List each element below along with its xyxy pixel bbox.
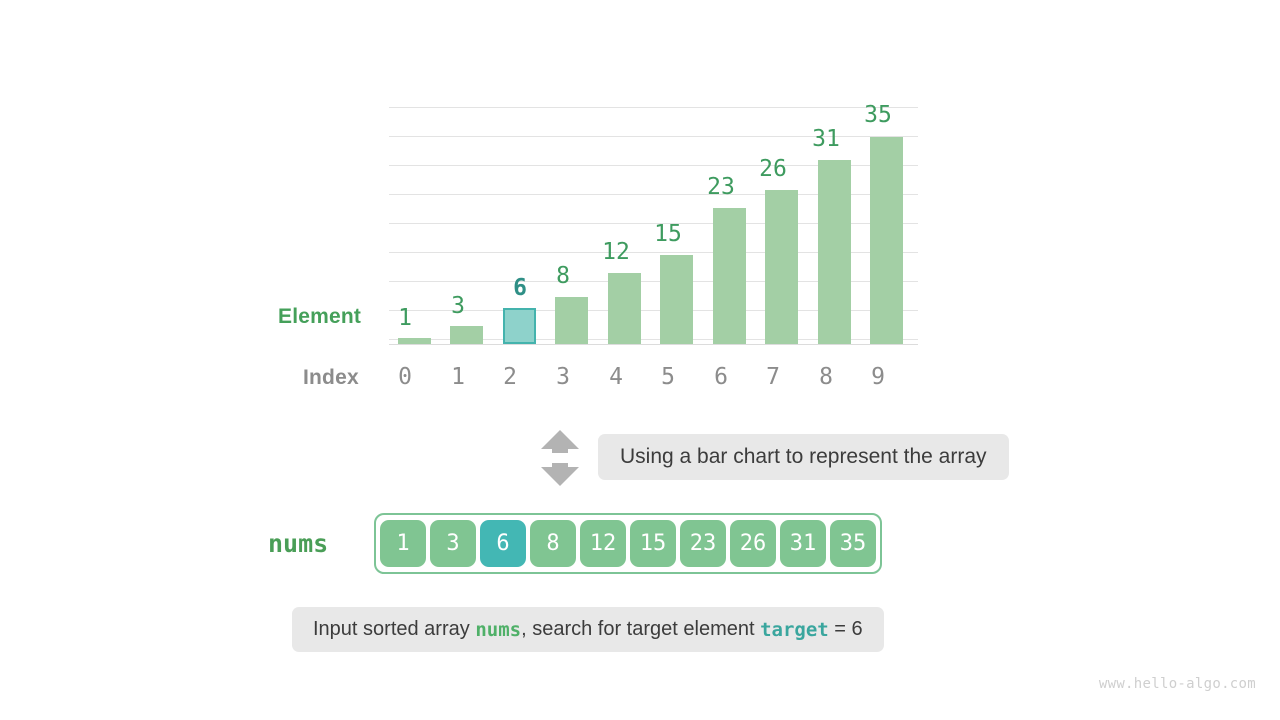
up-down-arrow-icon <box>538 429 582 487</box>
nums-cell-4[interactable]: 12 <box>580 520 626 567</box>
chart-caption-text: Using a bar chart to represent the array <box>620 445 987 469</box>
nums-cell-0[interactable]: 1 <box>380 520 426 567</box>
element-axis-label: Element <box>278 305 361 329</box>
index-label-1: 1 <box>428 366 488 389</box>
nums-cell-2[interactable]: 6 <box>480 520 526 567</box>
index-label-4: 4 <box>586 366 646 389</box>
bar-9[interactable] <box>870 137 903 344</box>
nums-array: 1 3 6 8 12 15 23 26 31 35 <box>374 513 882 574</box>
nums-cell-6[interactable]: 23 <box>680 520 726 567</box>
bottom-caption-part1: Input sorted array <box>313 618 475 641</box>
bar-2[interactable] <box>503 308 536 344</box>
bar-1[interactable] <box>450 326 483 344</box>
bottom-caption-code-target: target <box>760 619 829 641</box>
bar-value-5: 15 <box>638 223 698 246</box>
nums-cell-3[interactable]: 8 <box>530 520 576 567</box>
index-label-5: 5 <box>638 366 698 389</box>
bar-7[interactable] <box>765 190 798 344</box>
bar-value-1: 3 <box>428 295 488 318</box>
bar-value-7: 26 <box>743 158 803 181</box>
bar-value-4: 12 <box>586 241 646 264</box>
index-label-9: 9 <box>848 366 908 389</box>
nums-cell-5[interactable]: 15 <box>630 520 676 567</box>
bar-value-6: 23 <box>691 176 751 199</box>
index-label-3: 3 <box>533 366 593 389</box>
bar-value-0: 1 <box>375 307 435 330</box>
bar-0[interactable] <box>398 338 431 344</box>
nums-label: nums <box>268 529 328 558</box>
bar-value-3: 8 <box>533 265 593 288</box>
index-label-8: 8 <box>796 366 856 389</box>
nums-cell-8[interactable]: 31 <box>780 520 826 567</box>
axis-baseline <box>389 344 918 345</box>
bottom-caption: Input sorted array nums, search for targ… <box>292 607 884 652</box>
nums-cell-9[interactable]: 35 <box>830 520 876 567</box>
bar-3[interactable] <box>555 297 588 344</box>
index-label-0: 0 <box>375 366 435 389</box>
chart-caption: Using a bar chart to represent the array <box>598 434 1009 480</box>
bar-5[interactable] <box>660 255 693 344</box>
bottom-caption-part2: , search for target element <box>521 618 760 641</box>
bottom-caption-code-nums: nums <box>475 619 521 641</box>
nums-cell-1[interactable]: 3 <box>430 520 476 567</box>
bottom-caption-part3: = 6 <box>829 618 863 641</box>
bar-value-8: 31 <box>796 128 856 151</box>
index-label-6: 6 <box>691 366 751 389</box>
bar-8[interactable] <box>818 160 851 344</box>
nums-cell-7[interactable]: 26 <box>730 520 776 567</box>
index-label-2: 2 <box>480 366 540 389</box>
watermark: www.hello-algo.com <box>1099 676 1256 692</box>
index-label-7: 7 <box>743 366 803 389</box>
gridline <box>389 107 918 108</box>
bar-6[interactable] <box>713 208 746 344</box>
bar-value-9: 35 <box>848 104 908 127</box>
bar-4[interactable] <box>608 273 641 344</box>
index-axis-label: Index <box>303 366 359 390</box>
